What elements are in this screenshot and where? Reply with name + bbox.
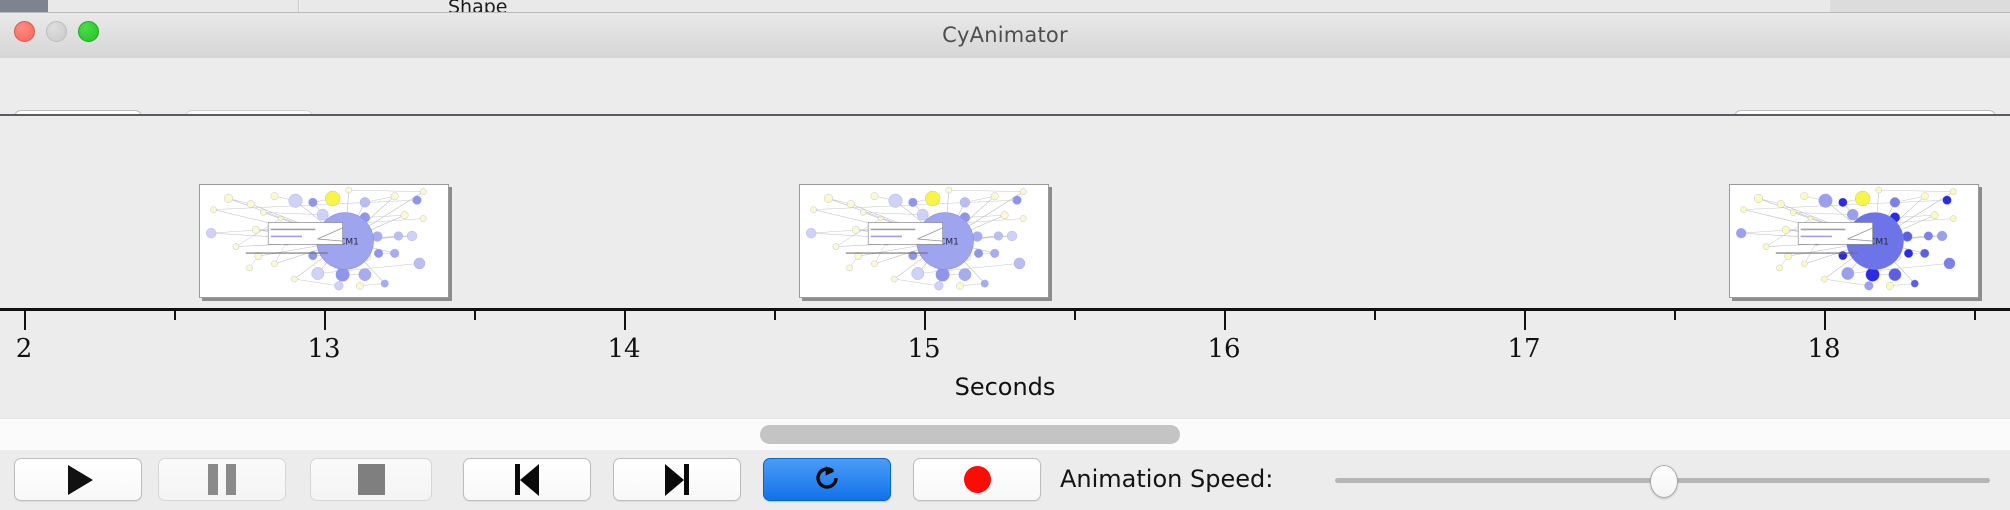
timeline-axis — [0, 308, 2010, 311]
pause-button[interactable] — [158, 458, 286, 501]
axis-tick-major — [624, 308, 626, 330]
axis-tick-major — [1824, 308, 1826, 330]
axis-tick-minor — [774, 308, 776, 320]
close-button[interactable] — [14, 21, 35, 42]
toolbar: + Clear All Frames — [0, 58, 2010, 113]
axis-tick-minor — [474, 308, 476, 320]
play-button[interactable] — [14, 458, 142, 501]
title-bar: CyAnimator — [0, 13, 2010, 59]
timeline-panel[interactable]: MCM1MCM1MCM1 2131415161718 Seconds — [0, 114, 2010, 420]
axis-tick-label: 14 — [607, 334, 640, 364]
axis-tick-minor — [1974, 308, 1976, 320]
timeline-scrollbar-thumb[interactable] — [760, 425, 1180, 444]
axis-tick-major — [924, 308, 926, 330]
skip-to-start-button[interactable] — [463, 458, 591, 501]
timeline-frame-thumbnail[interactable]: MCM1 — [799, 184, 1049, 298]
loop-icon — [811, 462, 843, 498]
axis-tick-minor — [174, 308, 176, 320]
axis-tick-major — [1524, 308, 1526, 330]
pause-icon — [208, 464, 236, 495]
timeline-scrollbar[interactable] — [0, 418, 2010, 451]
zoom-button[interactable] — [78, 21, 99, 42]
play-icon — [68, 465, 93, 495]
axis-tick-label: 17 — [1507, 334, 1540, 364]
skip-to-start-icon — [515, 464, 539, 496]
stop-icon — [358, 464, 385, 495]
stop-button[interactable] — [310, 458, 432, 501]
animation-speed-label: Animation Speed: — [1060, 458, 1273, 501]
network-graph-preview: MCM1 — [1730, 185, 1978, 297]
cyanimator-window: Z T Shape CyAnimator + — [0, 0, 2010, 510]
axis-title: Seconds — [0, 373, 2010, 401]
axis-tick-major — [1224, 308, 1226, 330]
axis-tick-label: 13 — [307, 334, 340, 364]
axis-tick-major — [324, 308, 326, 330]
skip-to-end-icon — [665, 464, 689, 496]
axis-tick-major — [24, 308, 26, 330]
axis-tick-minor — [1374, 308, 1376, 320]
record-button[interactable] — [913, 458, 1041, 501]
network-graph-preview: MCM1 — [200, 185, 448, 297]
skip-to-end-button[interactable] — [613, 458, 741, 501]
axis-tick-minor — [1074, 308, 1076, 320]
playback-controls: Animation Speed: — [0, 450, 2010, 510]
traffic-lights — [14, 21, 99, 42]
network-graph-preview: MCM1 — [800, 185, 1048, 297]
timeline-frame-thumbnail[interactable]: MCM1 — [1729, 184, 1979, 298]
axis-tick-label: 16 — [1207, 334, 1240, 364]
window-title: CyAnimator — [0, 13, 2010, 58]
minimize-button[interactable] — [46, 21, 67, 42]
axis-tick-label: 18 — [1807, 334, 1840, 364]
axis-tick-label: 2 — [16, 334, 33, 364]
timeline-frame-thumbnail[interactable]: MCM1 — [199, 184, 449, 298]
background-window-strip: Z T Shape — [0, 0, 2010, 13]
slider-thumb[interactable] — [1650, 465, 1678, 498]
axis-tick-minor — [1674, 308, 1676, 320]
loop-button[interactable] — [763, 458, 891, 501]
axis-tick-label: 15 — [907, 334, 940, 364]
record-icon — [964, 466, 991, 493]
animation-speed-slider[interactable] — [1335, 458, 1990, 501]
